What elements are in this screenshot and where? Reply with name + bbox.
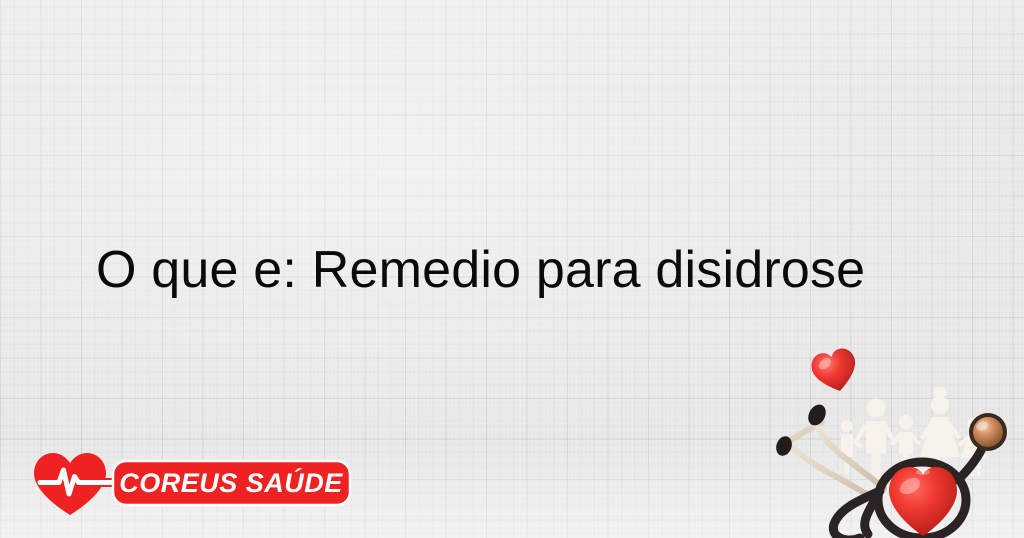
stethoscope-icon <box>776 402 1007 538</box>
page-title: O que e: Remedio para disidrose <box>96 239 956 301</box>
large-heart-icon <box>889 467 957 536</box>
small-heart-icon <box>809 348 862 396</box>
stethoscope-chestpiece <box>969 413 1007 451</box>
heart-pulse-icon <box>34 453 120 515</box>
slide-canvas: O que e: Remedio para disidrose COREUS S… <box>0 0 1024 538</box>
health-family-stethoscope-illustration <box>776 348 1024 538</box>
brand-logo[interactable]: COREUS SAÚDE <box>28 449 352 517</box>
brand-name-text: COREUS SAÚDE <box>119 467 343 498</box>
brand-badge: COREUS SAÚDE <box>113 461 350 505</box>
